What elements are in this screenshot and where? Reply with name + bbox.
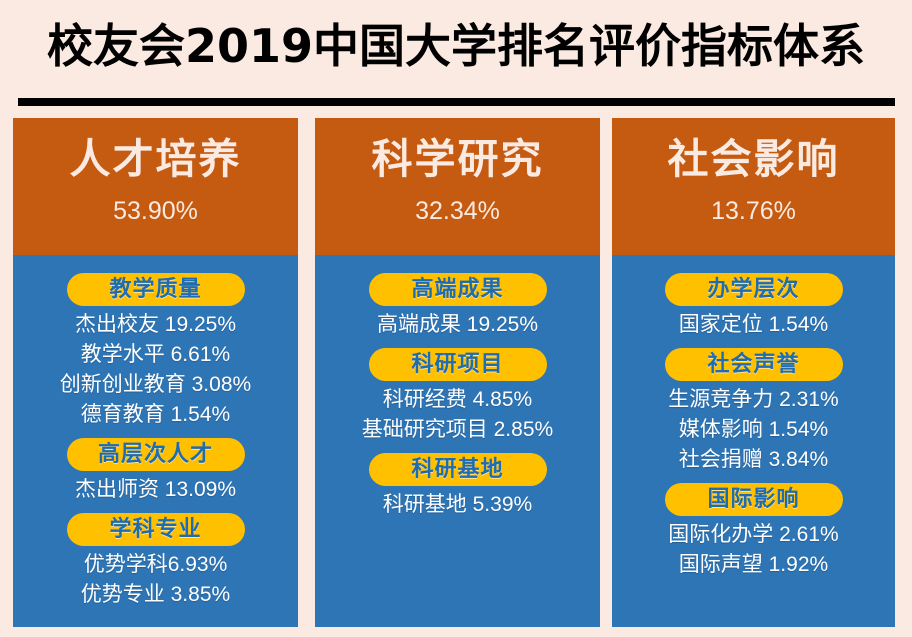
indicator-group: 高端成果高端成果 19.25% — [315, 273, 600, 340]
group-pill[interactable]: 教学质量 — [67, 273, 245, 306]
indicator-column: 社会影响13.76%办学层次国家定位 1.54%社会声誉生源竞争力 2.31%媒… — [612, 118, 895, 627]
column-header: 社会影响13.76% — [612, 118, 895, 255]
metric-row: 国家定位 1.54% — [612, 310, 895, 340]
indicator-group: 社会声誉生源竞争力 2.31%媒体影响 1.54%社会捐赠 3.84% — [612, 348, 895, 475]
metric-row: 科研基地 5.39% — [315, 490, 600, 520]
column-title: 社会影响 — [668, 132, 840, 186]
metric-row: 媒体影响 1.54% — [612, 415, 895, 445]
indicator-column: 人才培养53.90%教学质量杰出校友 19.25%教学水平 6.61%创新创业教… — [13, 118, 298, 627]
indicator-group: 国际影响国际化办学 2.61%国际声望 1.92% — [612, 483, 895, 580]
column-header: 人才培养53.90% — [13, 118, 298, 255]
metric-row: 国际声望 1.92% — [612, 550, 895, 580]
group-pill[interactable]: 高端成果 — [369, 273, 547, 306]
title-divider — [18, 98, 895, 106]
group-pill-label: 国际影响 — [707, 488, 799, 512]
metric-row: 生源竞争力 2.31% — [612, 385, 895, 415]
column-header: 科学研究32.34% — [315, 118, 600, 255]
group-pill-label: 科研项目 — [411, 353, 503, 377]
group-pill[interactable]: 社会声誉 — [665, 348, 843, 381]
column-body: 高端成果高端成果 19.25%科研项目科研经费 4.85%基础研究项目 2.85… — [315, 255, 600, 520]
indicator-columns: 人才培养53.90%教学质量杰出校友 19.25%教学水平 6.61%创新创业教… — [0, 118, 912, 628]
group-pill[interactable]: 科研项目 — [369, 348, 547, 381]
metric-row: 科研经费 4.85% — [315, 385, 600, 415]
page-title: 校友会2019中国大学排名评价指标体系 — [0, 14, 912, 78]
indicator-group: 高层次人才杰出师资 13.09% — [13, 438, 298, 505]
metric-row: 优势学科6.93% — [13, 550, 298, 580]
metric-row: 杰出校友 19.25% — [13, 310, 298, 340]
group-pill-label: 学科专业 — [109, 518, 201, 542]
indicator-group: 办学层次国家定位 1.54% — [612, 273, 895, 340]
group-pill[interactable]: 学科专业 — [67, 513, 245, 546]
metric-row: 德育教育 1.54% — [13, 400, 298, 430]
column-weight: 13.76% — [711, 194, 796, 228]
group-pill-label: 教学质量 — [109, 278, 201, 302]
group-pill[interactable]: 高层次人才 — [67, 438, 245, 471]
group-pill[interactable]: 国际影响 — [665, 483, 843, 516]
group-pill-label: 高层次人才 — [98, 443, 213, 467]
metric-row: 高端成果 19.25% — [315, 310, 600, 340]
indicator-column: 科学研究32.34%高端成果高端成果 19.25%科研项目科研经费 4.85%基… — [315, 118, 600, 627]
column-weight: 32.34% — [415, 194, 500, 228]
group-pill[interactable]: 科研基地 — [369, 453, 547, 486]
metric-row: 创新创业教育 3.08% — [13, 370, 298, 400]
metric-row: 国际化办学 2.61% — [612, 520, 895, 550]
metric-row: 杰出师资 13.09% — [13, 475, 298, 505]
group-pill[interactable]: 办学层次 — [665, 273, 843, 306]
group-pill-label: 社会声誉 — [707, 353, 799, 377]
page-header: 校友会2019中国大学排名评价指标体系 — [0, 0, 912, 112]
indicator-group: 科研项目科研经费 4.85%基础研究项目 2.85% — [315, 348, 600, 445]
metric-row: 社会捐赠 3.84% — [612, 445, 895, 475]
indicator-group: 教学质量杰出校友 19.25%教学水平 6.61%创新创业教育 3.08%德育教… — [13, 273, 298, 430]
group-pill-label: 科研基地 — [411, 458, 503, 482]
group-pill-label: 高端成果 — [411, 278, 503, 302]
group-pill-label: 办学层次 — [707, 278, 799, 302]
column-title: 人才培养 — [70, 132, 242, 186]
metric-row: 优势专业 3.85% — [13, 580, 298, 610]
column-body: 办学层次国家定位 1.54%社会声誉生源竞争力 2.31%媒体影响 1.54%社… — [612, 255, 895, 580]
column-title: 科学研究 — [372, 132, 544, 186]
column-weight: 53.90% — [113, 194, 198, 228]
indicator-group: 学科专业优势学科6.93%优势专业 3.85% — [13, 513, 298, 610]
metric-row: 基础研究项目 2.85% — [315, 415, 600, 445]
column-body: 教学质量杰出校友 19.25%教学水平 6.61%创新创业教育 3.08%德育教… — [13, 255, 298, 610]
metric-row: 教学水平 6.61% — [13, 340, 298, 370]
indicator-group: 科研基地科研基地 5.39% — [315, 453, 600, 520]
